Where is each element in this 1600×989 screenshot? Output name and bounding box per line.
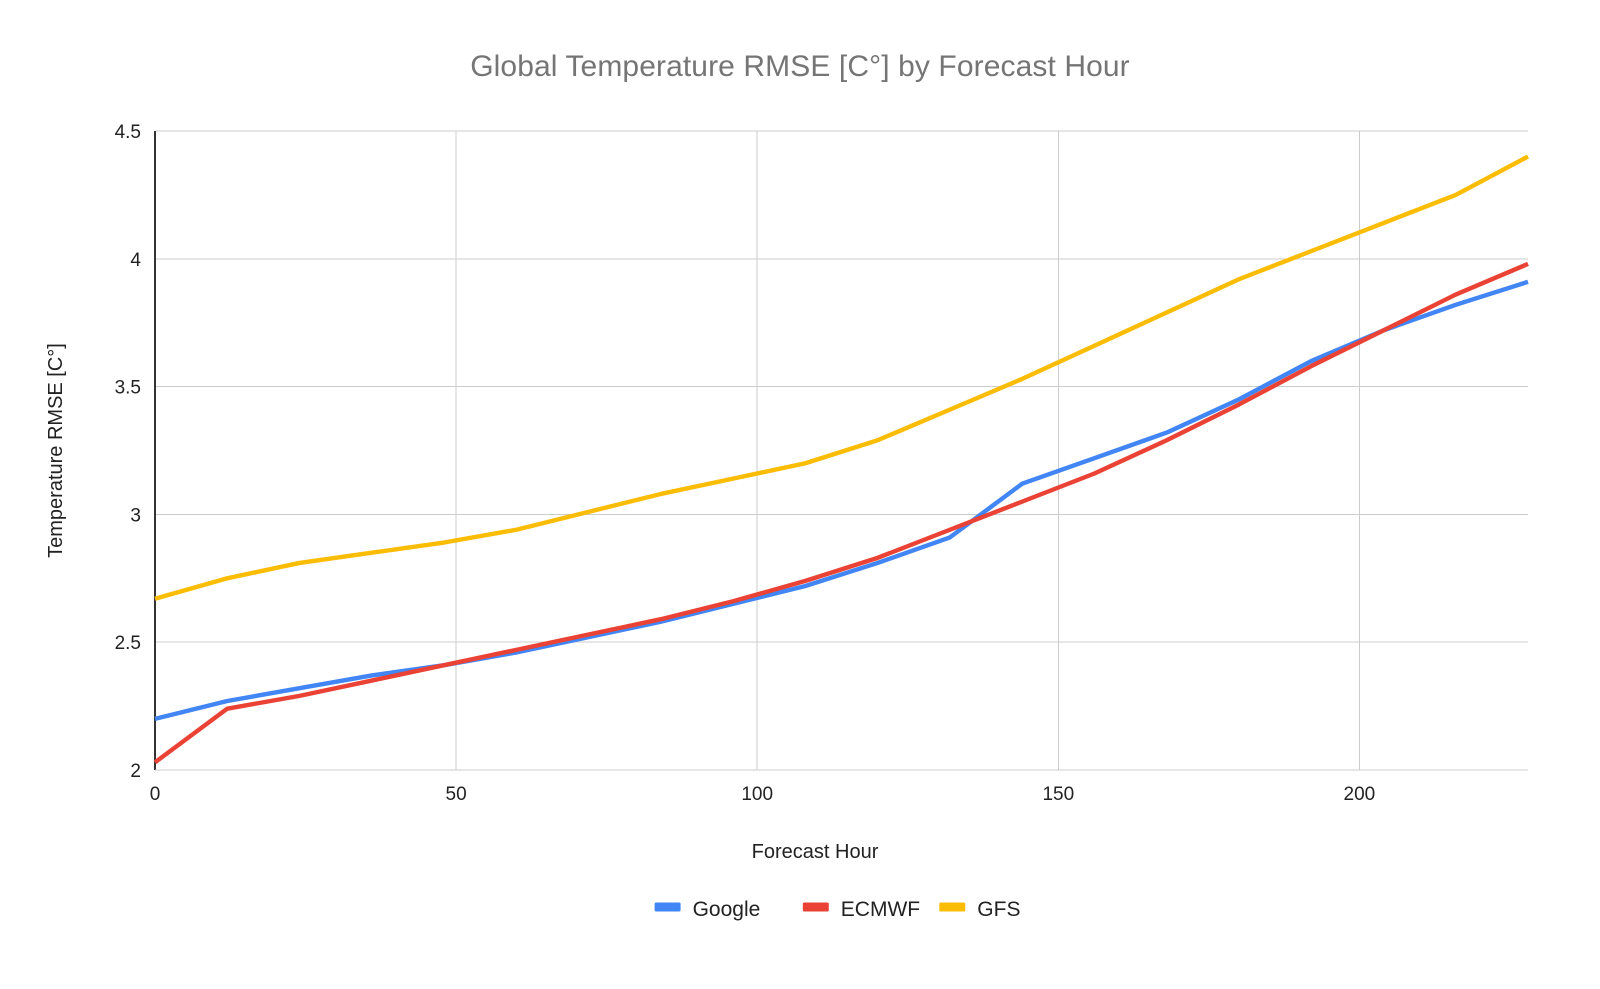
chart-legend[interactable]: GoogleECMWFGFS bbox=[655, 898, 1021, 921]
series-line-google[interactable] bbox=[155, 282, 1528, 719]
x-tick-label: 100 bbox=[741, 784, 773, 805]
data-series-group[interactable] bbox=[155, 157, 1528, 763]
legend-label-google: Google bbox=[693, 898, 761, 921]
y-axis-tick-labels: 22.533.544.5 bbox=[115, 122, 142, 782]
legend-item-ecmwf[interactable]: ECMWF bbox=[803, 898, 920, 921]
series-line-ecmwf[interactable] bbox=[155, 264, 1528, 762]
legend-swatch-ecmwf bbox=[803, 903, 829, 912]
x-axis-tick-labels: 050100150200 bbox=[150, 784, 1376, 805]
y-tick-label: 2 bbox=[130, 761, 141, 782]
legend-label-gfs: GFS bbox=[977, 898, 1020, 921]
y-tick-label: 3 bbox=[130, 505, 141, 526]
y-tick-label: 4.5 bbox=[115, 122, 141, 143]
chart-container: Global Temperature RMSE [C°] by Forecast… bbox=[0, 0, 1600, 989]
legend-item-gfs[interactable]: GFS bbox=[939, 898, 1020, 921]
x-tick-label: 0 bbox=[150, 784, 161, 805]
y-tick-label: 3.5 bbox=[115, 378, 141, 399]
legend-swatch-google bbox=[655, 903, 681, 912]
line-chart-plot[interactable]: 22.533.544.5 050100150200 Temperature RM… bbox=[0, 0, 1600, 989]
y-tick-label: 2.5 bbox=[115, 633, 141, 654]
y-tick-label: 4 bbox=[130, 250, 141, 271]
x-tick-label: 150 bbox=[1042, 784, 1074, 805]
x-tick-label: 200 bbox=[1344, 784, 1376, 805]
x-tick-label: 50 bbox=[446, 784, 467, 805]
legend-label-ecmwf: ECMWF bbox=[841, 898, 920, 921]
x-axis-title: Forecast Hour bbox=[752, 841, 879, 863]
series-line-gfs[interactable] bbox=[155, 157, 1528, 599]
y-axis-title: Temperature RMSE [C°] bbox=[45, 343, 67, 558]
legend-item-google[interactable]: Google bbox=[655, 898, 761, 921]
legend-swatch-gfs bbox=[939, 903, 965, 912]
